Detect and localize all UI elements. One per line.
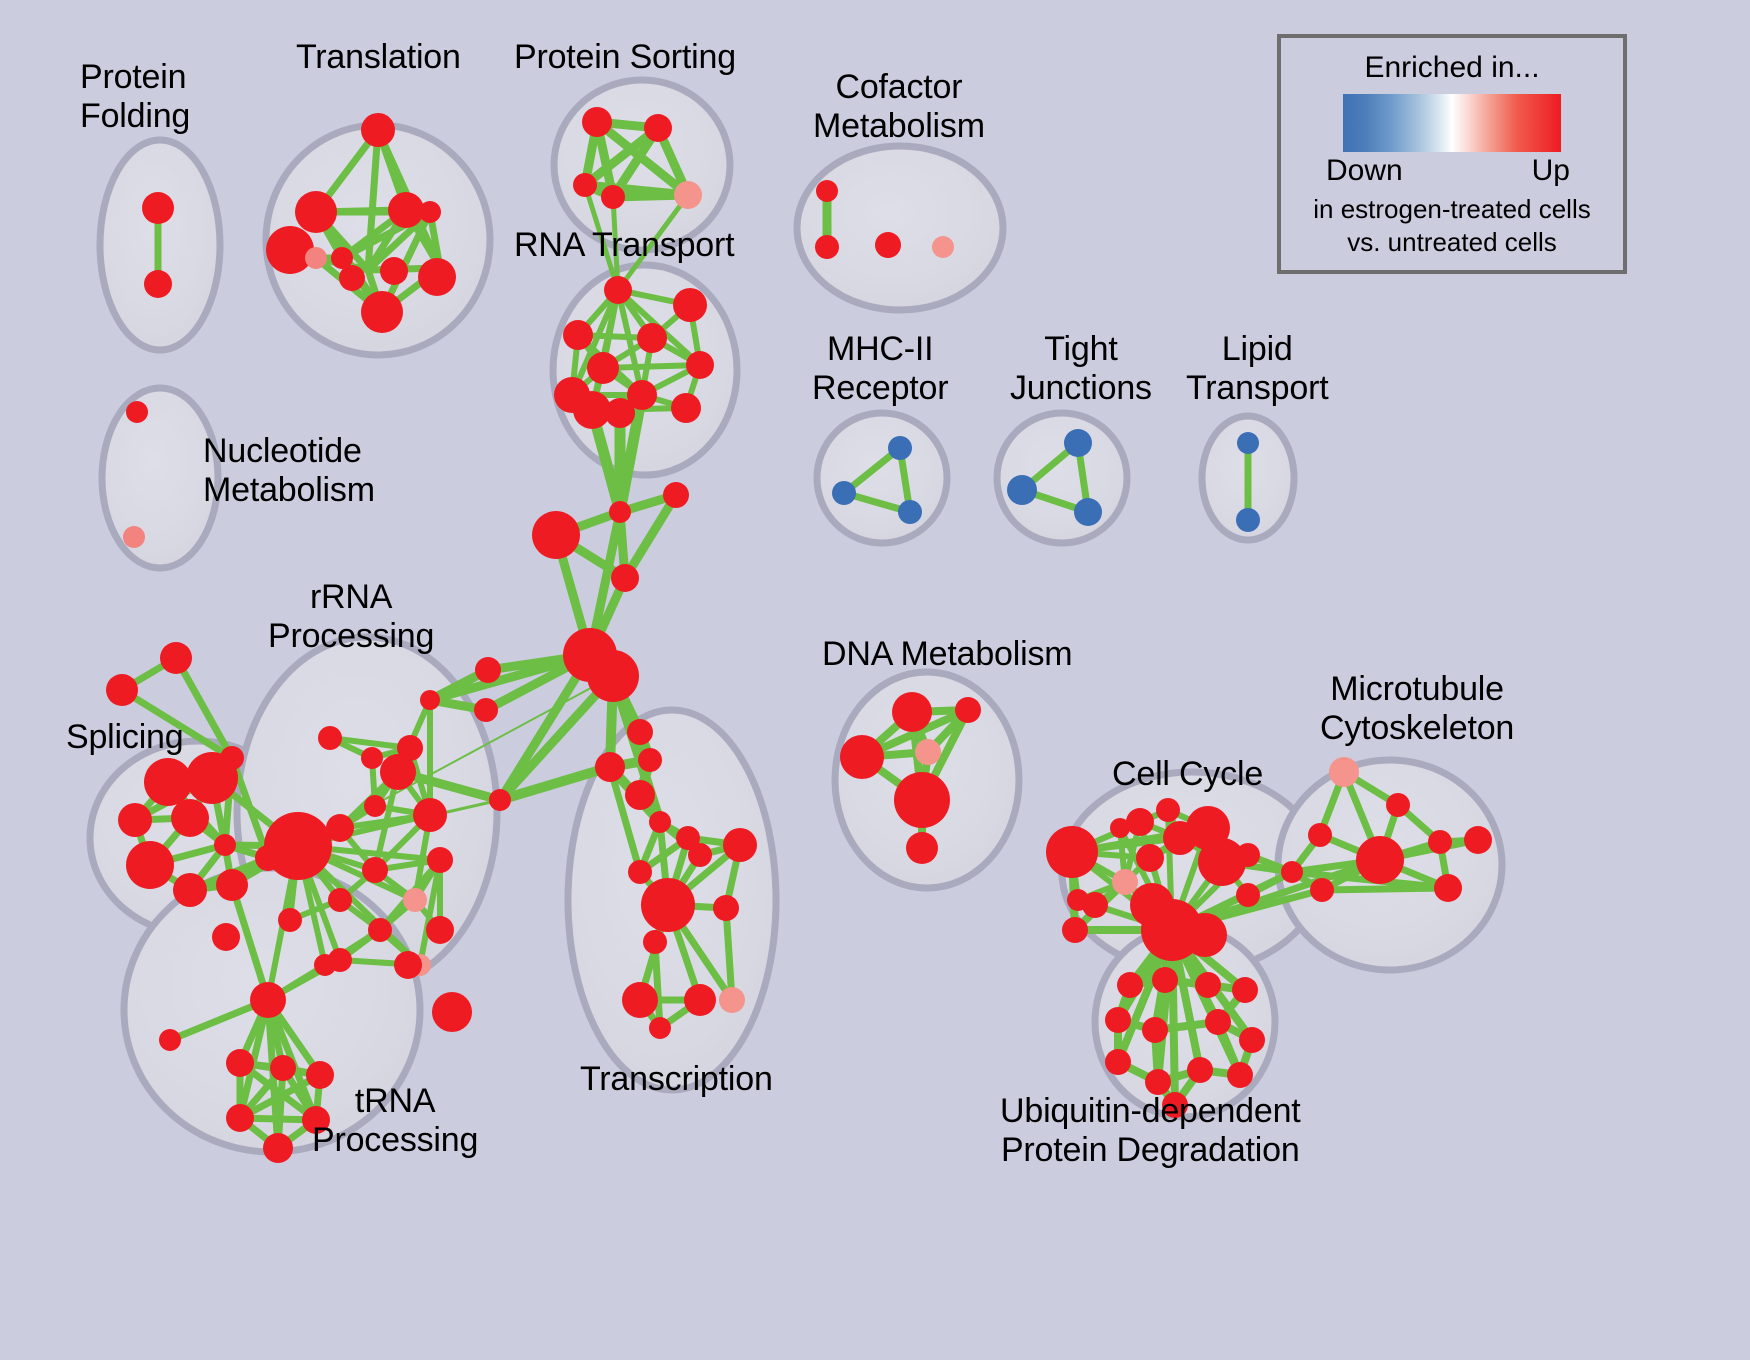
cluster-label-rna-transport: RNA Transport [514, 226, 734, 265]
cluster-label-rrna-processing: rRNA Processing [268, 578, 434, 656]
legend-endpoints: Down Up [1322, 154, 1582, 192]
legend-subtitle-line1: in estrogen-treated cells [1281, 194, 1623, 225]
legend-color-gradient-bar [1343, 94, 1561, 152]
cluster-label-cofactor-metabolism: Cofactor Metabolism [813, 68, 985, 146]
legend-high-label: Up [1532, 154, 1570, 188]
cluster-label-mhc-ii-receptor: MHC-II Receptor [812, 330, 948, 408]
legend-title: Enriched in... [1281, 50, 1623, 86]
cluster-label-trna-processing: tRNA Processing [312, 1082, 478, 1160]
cluster-label-nucleotide-metabolism: Nucleotide Metabolism [203, 432, 375, 510]
cluster-label-splicing: Splicing [66, 718, 183, 757]
color-legend: Enriched in... Down Up in estrogen-treat… [1277, 34, 1627, 274]
cluster-label-cell-cycle: Cell Cycle [1112, 755, 1263, 794]
cluster-label-translation: Translation [296, 38, 461, 77]
cluster-label-ubiquitin-degradation: Ubiquitin-dependent Protein Degradation [1000, 1092, 1301, 1170]
legend-low-label: Down [1326, 154, 1403, 188]
enrichment-map-figure: Protein Folding Translation Protein Sort… [0, 0, 1750, 1360]
cluster-label-transcription: Transcription [580, 1060, 773, 1099]
cluster-label-dna-metabolism: DNA Metabolism [822, 635, 1072, 674]
cluster-label-tight-junctions: Tight Junctions [1010, 330, 1152, 408]
cluster-label-lipid-transport: Lipid Transport [1186, 330, 1328, 408]
cluster-label-microtubule-cytoskeleton: Microtubule Cytoskeleton [1320, 670, 1514, 748]
cluster-label-protein-sorting: Protein Sorting [514, 38, 736, 77]
cluster-label-protein-folding: Protein Folding [80, 58, 190, 136]
legend-subtitle-line2: vs. untreated cells [1281, 227, 1623, 258]
